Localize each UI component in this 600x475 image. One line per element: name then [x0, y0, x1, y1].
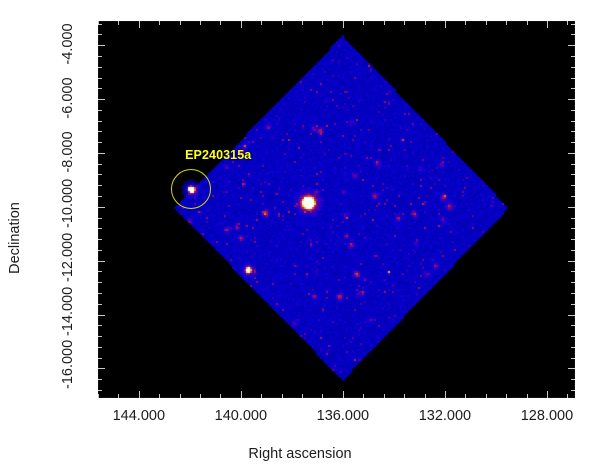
x-tick-label: 140.000: [215, 408, 267, 424]
y-tick-label-text: -12.000: [60, 238, 76, 282]
axis-tick: [118, 21, 119, 25]
sky-image-canvas: [98, 21, 575, 398]
axis-tick: [159, 21, 160, 25]
axis-tick: [486, 21, 487, 25]
y-tick-label-text: -16.000: [60, 345, 76, 389]
axis-tick: [384, 21, 385, 25]
x-axis-title-text: Right ascension: [248, 446, 351, 462]
axis-tick: [98, 304, 102, 305]
axis-tick: [547, 21, 548, 28]
axis-tick: [220, 394, 221, 398]
axis-tick: [527, 394, 528, 398]
axis-tick: [571, 110, 575, 111]
axis-tick: [571, 390, 575, 391]
y-tick-label: -10.000: [46, 198, 90, 216]
y-tick-label: -6.000: [46, 90, 90, 108]
axis-tick: [98, 368, 105, 369]
axis-tick: [98, 390, 102, 391]
axis-tick: [98, 271, 102, 272]
axis-tick: [98, 293, 102, 294]
axis-tick: [571, 88, 575, 89]
x-tick-label: 136.000: [317, 408, 369, 424]
axis-tick: [571, 358, 575, 359]
axis-tick: [571, 34, 575, 35]
axis-tick: [571, 228, 575, 229]
y-tick-label: -16.000: [46, 359, 90, 377]
axis-tick: [547, 391, 548, 398]
axis-tick: [568, 261, 575, 262]
y-tick-label: -14.000: [46, 306, 90, 324]
axis-tick: [98, 121, 102, 122]
axis-tick: [343, 391, 344, 398]
axis-tick: [139, 21, 140, 28]
axis-tick: [200, 21, 201, 25]
axis-tick: [571, 56, 575, 57]
axis-tick: [98, 261, 105, 262]
axis-tick: [363, 21, 364, 25]
axis-tick: [363, 394, 364, 398]
axis-tick: [98, 24, 102, 25]
axis-tick: [98, 196, 102, 197]
x-tick-label: 128.000: [521, 408, 573, 424]
y-axis-title-text: Declination: [7, 202, 23, 274]
axis-tick: [98, 56, 102, 57]
y-tick-label-text: -14.000: [60, 292, 76, 336]
axis-tick: [571, 239, 575, 240]
axis-tick: [98, 45, 105, 46]
axis-tick: [465, 394, 466, 398]
axis-tick: [322, 21, 323, 25]
axis-tick: [404, 394, 405, 398]
axis-tick: [180, 21, 181, 25]
axis-tick: [98, 174, 102, 175]
y-tick-label: -8.000: [46, 144, 90, 162]
axis-tick: [384, 394, 385, 398]
axis-tick: [98, 228, 102, 229]
axis-tick: [139, 391, 140, 398]
figure-root: EP240315a 144.000140.000136.000132.00012…: [0, 0, 600, 475]
axis-tick: [261, 394, 262, 398]
axis-tick: [322, 394, 323, 398]
axis-tick: [571, 304, 575, 305]
axis-tick: [98, 282, 102, 283]
axis-tick: [506, 394, 507, 398]
axis-tick: [98, 78, 102, 79]
axis-tick: [465, 21, 466, 25]
axis-tick: [98, 164, 102, 165]
axis-tick: [567, 394, 568, 398]
axis-tick: [98, 325, 102, 326]
axis-tick: [571, 131, 575, 132]
axis-tick: [302, 21, 303, 25]
axis-tick: [571, 282, 575, 283]
y-tick-label-text: -10.000: [60, 184, 76, 228]
axis-tick: [571, 196, 575, 197]
axis-tick: [571, 67, 575, 68]
y-tick-label: -12.000: [46, 252, 90, 270]
axis-tick: [445, 21, 446, 28]
axis-tick: [571, 185, 575, 186]
axis-tick: [506, 21, 507, 25]
axis-tick: [98, 67, 102, 68]
axis-tick: [567, 21, 568, 25]
axis-tick: [98, 358, 102, 359]
axis-tick: [98, 250, 102, 251]
axis-tick: [404, 21, 405, 25]
axis-tick: [282, 21, 283, 25]
axis-tick: [98, 347, 102, 348]
axis-tick: [98, 218, 102, 219]
axis-tick: [568, 315, 575, 316]
axis-tick: [571, 78, 575, 79]
axis-tick: [241, 391, 242, 398]
x-tick-label: 132.000: [419, 408, 471, 424]
axis-tick: [241, 21, 242, 28]
axis-tick: [571, 293, 575, 294]
y-tick-label: -4.000: [46, 36, 90, 54]
axis-tick: [98, 153, 105, 154]
axis-tick: [200, 394, 201, 398]
axis-tick: [302, 394, 303, 398]
axis-tick: [571, 336, 575, 337]
axis-tick: [445, 391, 446, 398]
axis-tick: [98, 379, 102, 380]
axis-tick: [98, 315, 105, 316]
axis-tick: [568, 153, 575, 154]
axis-tick: [343, 21, 344, 28]
axis-tick: [571, 347, 575, 348]
axis-tick: [98, 131, 102, 132]
axis-tick: [568, 45, 575, 46]
y-axis-title: Declination: [4, 0, 26, 475]
axis-tick: [98, 394, 99, 398]
axis-tick: [568, 368, 575, 369]
x-tick-label: 144.000: [113, 408, 165, 424]
axis-tick: [98, 34, 102, 35]
y-tick-label-text: -6.000: [60, 76, 76, 120]
axis-tick: [571, 121, 575, 122]
axis-tick: [571, 24, 575, 25]
axis-tick: [159, 394, 160, 398]
axis-tick: [282, 394, 283, 398]
axis-tick: [98, 88, 102, 89]
sky-image-panel: EP240315a: [98, 21, 575, 398]
axis-tick: [98, 110, 102, 111]
axis-tick: [571, 271, 575, 272]
axis-tick: [220, 21, 221, 25]
axis-tick: [527, 21, 528, 25]
axis-tick: [571, 142, 575, 143]
axis-tick: [98, 142, 102, 143]
axis-tick: [180, 394, 181, 398]
axis-tick: [568, 99, 575, 100]
y-tick-label-text: -8.000: [60, 130, 76, 174]
axis-tick: [118, 394, 119, 398]
axis-tick: [98, 239, 102, 240]
axis-tick: [98, 99, 105, 100]
axis-tick: [568, 207, 575, 208]
axis-tick: [571, 325, 575, 326]
axis-tick: [571, 250, 575, 251]
axis-tick: [261, 21, 262, 25]
axis-tick: [571, 218, 575, 219]
axis-tick: [486, 394, 487, 398]
y-tick-label-text: -4.000: [60, 22, 76, 66]
axis-tick: [571, 174, 575, 175]
x-axis-title: Right ascension: [0, 446, 600, 462]
axis-tick: [98, 336, 102, 337]
axis-tick: [425, 394, 426, 398]
axis-tick: [98, 185, 102, 186]
axis-tick: [98, 207, 105, 208]
axis-tick: [425, 21, 426, 25]
axis-tick: [571, 379, 575, 380]
axis-tick: [571, 164, 575, 165]
